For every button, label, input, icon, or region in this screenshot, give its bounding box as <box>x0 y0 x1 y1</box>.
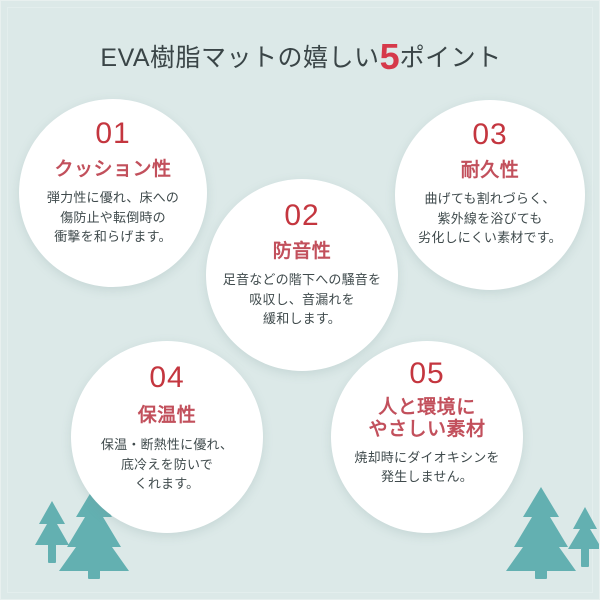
point-body-line: 底冷えを防いで <box>101 455 233 474</box>
point-circle-02: 02 防音性 足音などの階下への騒音を 吸収し、音漏れを 緩和します。 <box>206 179 398 371</box>
point-body-line: 吸収し、音漏れを <box>223 290 381 309</box>
point-circle-04: 04 保温性 保温・断熱性に優れ、 底冷えを防いで くれます。 <box>71 341 263 533</box>
point-heading-line: やさしい素材 <box>368 419 485 441</box>
point-number-01: 01 <box>95 119 130 149</box>
point-heading-01: クッション性 <box>54 159 171 181</box>
point-body-line: 弾力性に優れ、床への <box>47 188 179 207</box>
point-circle-01: 01 クッション性 弾力性に優れ、床への 傷防止や転倒時の 衝撃を和らげます。 <box>19 99 207 287</box>
point-body-line: 紫外線を浴びても <box>418 209 562 228</box>
pine-tree-icon-large <box>506 487 576 579</box>
point-body-03: 曲げても割れづらく、 紫外線を浴びても 劣化しにくい素材です。 <box>418 189 562 247</box>
point-heading-05: 人と環境にやさしい素材 <box>368 397 485 442</box>
point-body-04: 保温・断熱性に優れ、 底冷えを防いで くれます。 <box>101 435 233 493</box>
point-number-05: 05 <box>409 359 444 389</box>
page-title-suffix: ポイント <box>400 44 502 72</box>
pine-trees-right <box>501 479 600 579</box>
point-body-02: 足音などの階下への騒音を 吸収し、音漏れを 緩和します。 <box>223 270 381 328</box>
point-body-line: 足音などの階下への騒音を <box>223 270 381 289</box>
pine-tree-icon-small <box>35 501 69 563</box>
point-circle-03: 03 耐久性 曲げても割れづらく、 紫外線を浴びても 劣化しにくい素材です。 <box>395 100 585 290</box>
point-body-line: 焼却時にダイオキシンを <box>354 448 499 467</box>
point-heading-04: 保温性 <box>138 405 197 427</box>
page-title-number: 5 <box>380 36 400 77</box>
point-body-line: 緩和します。 <box>223 309 381 328</box>
point-body-line: 発生しません。 <box>354 467 499 486</box>
point-body-line: 衝撃を和らげます。 <box>47 227 179 246</box>
point-heading-03: 耐久性 <box>461 160 520 182</box>
page-title: EVA樹脂マットの嬉しい5ポイント <box>1 39 600 75</box>
point-body-line: くれます。 <box>101 474 233 493</box>
point-body-line: 劣化しにくい素材です。 <box>418 228 562 247</box>
page-title-prefix: EVA樹脂マットの嬉しい <box>100 44 379 72</box>
infographic-poster: EVA樹脂マットの嬉しい5ポイント 01 クッション性 弾力性に優れ、床への 傷… <box>0 0 600 600</box>
point-body-01: 弾力性に優れ、床への 傷防止や転倒時の 衝撃を和らげます。 <box>47 188 179 246</box>
point-number-03: 03 <box>472 120 507 150</box>
point-body-05: 焼却時にダイオキシンを 発生しません。 <box>354 448 499 486</box>
point-number-04: 04 <box>149 363 184 393</box>
pine-tree-icon-small <box>568 507 600 567</box>
point-body-line: 傷防止や転倒時の <box>47 208 179 227</box>
point-heading-line: 人と環境に <box>368 397 485 419</box>
point-body-line: 保温・断熱性に優れ、 <box>101 435 233 454</box>
point-heading-02: 防音性 <box>273 241 332 263</box>
point-body-line: 曲げても割れづらく、 <box>418 189 562 208</box>
pine-tree-icon-group-right <box>501 479 600 579</box>
point-circle-05: 05 人と環境にやさしい素材 焼却時にダイオキシンを 発生しません。 <box>331 341 523 533</box>
point-number-02: 02 <box>284 201 319 231</box>
